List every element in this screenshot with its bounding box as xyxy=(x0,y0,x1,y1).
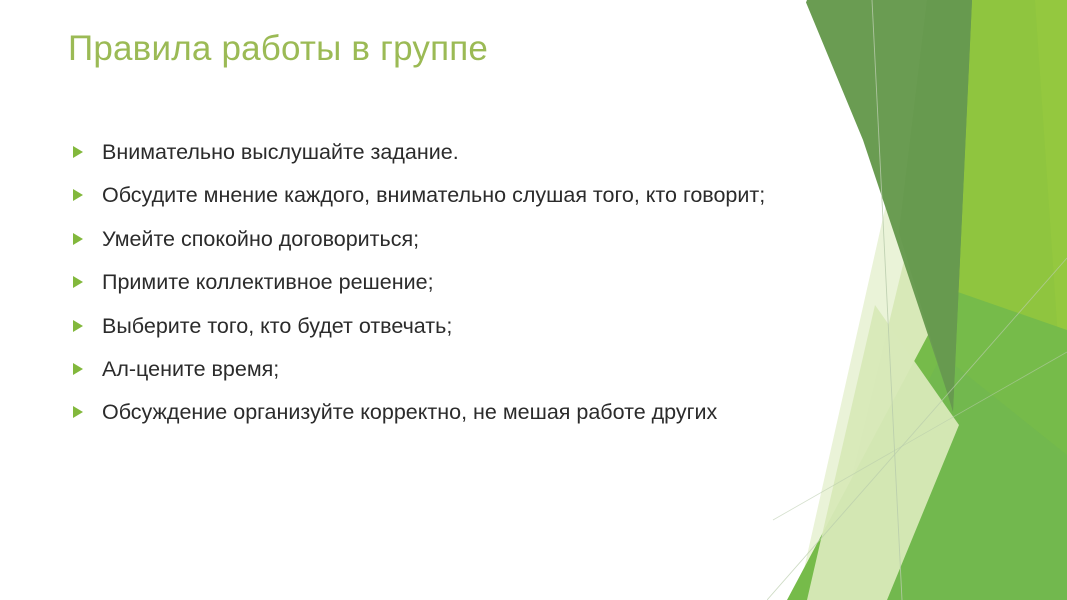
slide: Правила работы в группе Внимательно высл… xyxy=(0,0,1067,600)
list-item: Выберите того, кто будет отвечать; xyxy=(70,312,850,340)
list-item-label: Внимательно выслушайте задание. xyxy=(102,138,837,166)
bullet-list: Внимательно выслушайте задание. Обсудите… xyxy=(70,138,850,427)
pale-wedge-main xyxy=(822,0,1067,600)
white-sliver-edge xyxy=(767,0,807,95)
triangle-right-icon xyxy=(70,144,86,160)
list-item-label: Ал-цените время; xyxy=(102,355,837,383)
list-item-label: Выберите того, кто будет отвечать; xyxy=(102,312,837,340)
muted-green-slab xyxy=(812,355,1067,600)
list-item-label: Обсудите мнение каждого, внимательно слу… xyxy=(102,181,837,209)
list-item: Обсудите мнение каждого, внимательно слу… xyxy=(70,181,850,209)
hairline-vertical xyxy=(872,0,902,600)
list-item: Умейте спокойно договориться; xyxy=(70,225,850,253)
list-item: Примите коллективное решение; xyxy=(70,268,850,296)
list-item: Обсуждение организуйте корректно, не меш… xyxy=(70,398,850,426)
triangle-right-icon xyxy=(70,361,86,377)
triangle-right-icon xyxy=(70,187,86,203)
triangle-right-icon xyxy=(70,274,86,290)
triangle-right-icon xyxy=(70,231,86,247)
list-item: Внимательно выслушайте задание. xyxy=(70,138,850,166)
dark-olive-tip xyxy=(899,0,972,412)
triangle-right-icon xyxy=(70,318,86,334)
bright-green-column xyxy=(917,0,1067,600)
list-item: Ал-цените время; xyxy=(70,355,850,383)
triangle-right-icon xyxy=(70,404,86,420)
list-item-label: Обсуждение организуйте корректно, не меш… xyxy=(102,398,837,426)
list-item-label: Умейте спокойно договориться; xyxy=(102,225,837,253)
lime-band-right xyxy=(963,0,1067,600)
list-item-label: Примите коллективное решение; xyxy=(102,268,837,296)
page-title: Правила работы в группе xyxy=(68,28,768,70)
